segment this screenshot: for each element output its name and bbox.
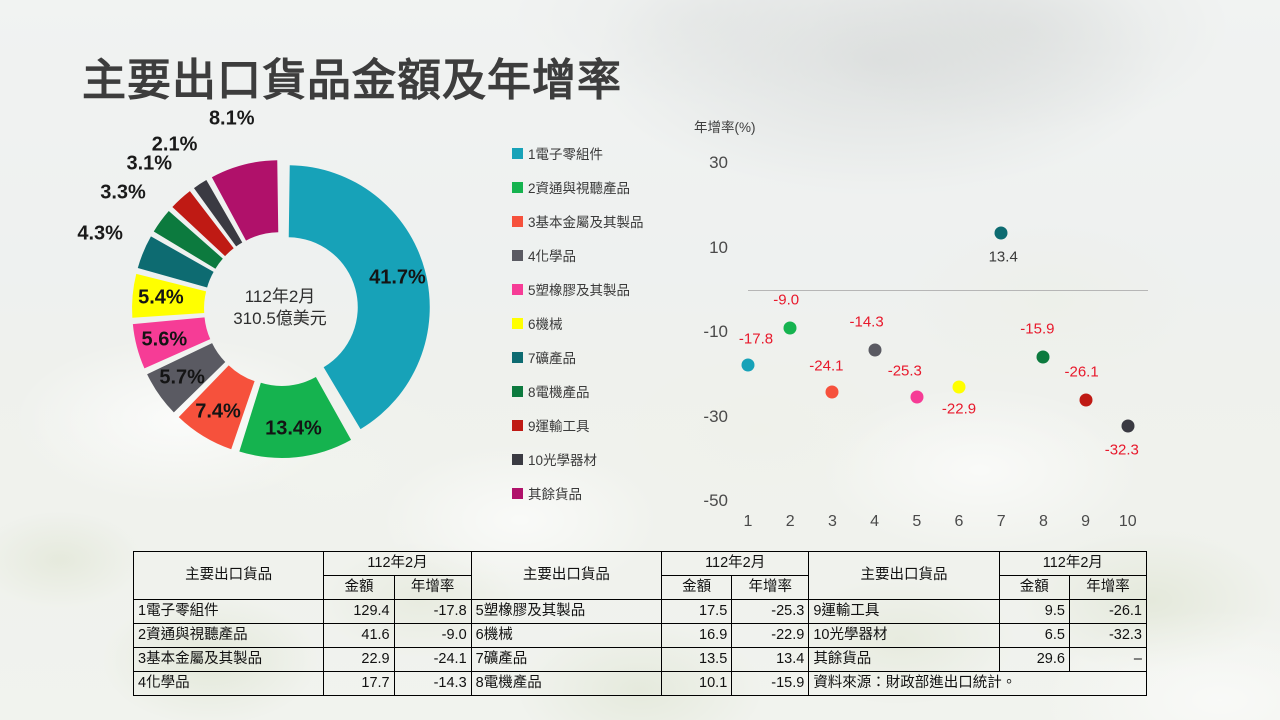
legend-swatch-icon [512,386,523,397]
table-cell-amount: 10.1 [662,672,732,696]
legend-item-6[interactable]: 6機械 [512,306,692,340]
table-header-name: 主要出口貨品 [809,552,999,600]
table-cell-amount: 17.5 [662,600,732,624]
legend-swatch-icon [512,216,523,227]
legend-item-label: 2資通與視聽產品 [528,177,630,197]
donut-center-line2: 310.5億美元 [233,308,327,330]
y-axis-title: 年增率(%) [694,116,756,136]
table-header-name: 主要出口貨品 [134,552,324,600]
legend-item-4[interactable]: 4化學品 [512,238,692,272]
donut-slice-label: 7.4% [195,400,241,423]
scatter-point-label: -24.1 [809,357,843,374]
scatter-point-7[interactable] [995,227,1008,240]
table-row: 3基本金屬及其製品22.9-24.17礦產品13.513.4其餘貨品29.6– [134,648,1147,672]
x-axis-tick: 8 [1039,513,1048,531]
table-header-growth: 年增率 [1069,576,1146,600]
donut-chart: 41.7%13.4%7.4%5.7%5.6%5.4%4.3%3.3%3.1%2.… [70,108,490,508]
scatter-point-10[interactable] [1121,420,1134,433]
table-header-name: 主要出口貨品 [471,552,661,600]
legend-item-11[interactable]: 其餘貨品 [512,476,692,510]
scatter-point-2[interactable] [784,321,797,334]
donut-slice-label: 8.1% [209,108,255,131]
legend-swatch-icon [512,420,523,431]
legend-swatch-icon [512,250,523,261]
scatter-point-9[interactable] [1079,394,1092,407]
table-cell-amount: 13.5 [662,648,732,672]
y-axis-tick: -30 [680,407,728,427]
table-cell-growth: -15.9 [732,672,809,696]
legend-swatch-icon [512,148,523,159]
growth-rate-scatter-chart: 年增率(%) 3010-10-30-50 12345678910 -17.8-9… [680,108,1180,538]
table-cell-name: 1電子零組件 [134,600,324,624]
donut-slice-label: 4.3% [77,222,123,245]
legend-item-label: 5塑橡膠及其製品 [528,279,630,299]
table-header-row: 主要出口貨品112年2月主要出口貨品112年2月主要出口貨品112年2月 [134,552,1147,576]
donut-slice-label: 5.7% [159,367,205,390]
scatter-point-label: -32.3 [1105,442,1139,459]
table-cell-growth: -17.8 [394,600,471,624]
x-axis-tick: 4 [870,513,879,531]
table-header-amount: 金額 [662,576,732,600]
table-header-amount: 金額 [324,576,394,600]
legend-item-label: 6機械 [528,313,563,333]
table-cell-name: 6機械 [471,624,661,648]
legend-item-2[interactable]: 2資通與視聽產品 [512,170,692,204]
donut-slice-label: 41.7% [369,266,426,289]
legend-swatch-icon [512,182,523,193]
table-cell-name: 8電機產品 [471,672,661,696]
table-row: 2資通與視聽產品41.6-9.06機械16.9-22.910光學器材6.5-32… [134,624,1147,648]
scatter-point-3[interactable] [826,385,839,398]
donut-center-label: 112年2月 310.5億美元 [233,286,327,330]
donut-slice-label: 13.4% [265,417,322,440]
donut-slice-label: 5.4% [138,287,184,310]
x-axis-tick: 9 [1081,513,1090,531]
scatter-point-1[interactable] [742,359,755,372]
donut-slice-label: 2.1% [152,133,198,156]
scatter-point-label: -22.9 [942,400,976,417]
table-header-amount: 金額 [999,576,1069,600]
donut-slice-label: 5.6% [142,328,188,351]
x-axis-tick: 6 [955,513,964,531]
legend-item-label: 9運輸工具 [528,415,590,435]
table-header-period: 112年2月 [324,552,471,576]
table-cell-amount: 129.4 [324,600,394,624]
scatter-point-label: 13.4 [989,249,1018,266]
scatter-point-label: -9.0 [773,291,799,308]
legend-item-8[interactable]: 8電機產品 [512,374,692,408]
table-header-period: 112年2月 [999,552,1146,576]
scatter-point-label: -25.3 [888,362,922,379]
legend-swatch-icon [512,454,523,465]
scatter-point-label: -14.3 [849,314,883,331]
table-cell-name: 9運輸工具 [809,600,999,624]
legend-swatch-icon [512,284,523,295]
scatter-point-label: -26.1 [1064,364,1098,381]
table-cell-growth: -32.3 [1069,624,1146,648]
table-cell-amount: 16.9 [662,624,732,648]
legend-item-10[interactable]: 10光學器材 [512,442,692,476]
table-cell-name: 10光學器材 [809,624,999,648]
x-axis-tick: 2 [786,513,795,531]
table-cell-growth: -24.1 [394,648,471,672]
zero-gridline [748,290,1148,291]
table-cell-name: 4化學品 [134,672,324,696]
export-goods-table: 主要出口貨品112年2月主要出口貨品112年2月主要出口貨品112年2月金額年增… [133,551,1147,696]
legend-item-label: 7礦產品 [528,347,576,367]
legend-item-label: 4化學品 [528,245,576,265]
table-cell-amount: 22.9 [324,648,394,672]
x-axis-tick: 7 [997,513,1006,531]
table-header-period: 112年2月 [662,552,809,576]
scatter-point-4[interactable] [868,344,881,357]
x-axis-tick: 1 [744,513,753,531]
table-cell-amount: 9.5 [999,600,1069,624]
table-cell-growth: -14.3 [394,672,471,696]
scatter-point-8[interactable] [1037,351,1050,364]
donut-slice [212,160,278,240]
table-cell-growth: -26.1 [1069,600,1146,624]
y-axis-tick: -50 [680,491,728,511]
legend-swatch-icon [512,352,523,363]
x-axis-tick: 3 [828,513,837,531]
scatter-point-5[interactable] [910,390,923,403]
legend-item-label: 8電機產品 [528,381,590,401]
table-cell-growth: -22.9 [732,624,809,648]
y-axis-tick: 30 [680,153,728,173]
legend-item-label: 10光學器材 [528,449,597,469]
table-cell-growth: – [1069,648,1146,672]
table-cell-amount: 17.7 [324,672,394,696]
x-axis-tick: 10 [1119,513,1137,531]
table-cell-name: 3基本金屬及其製品 [134,648,324,672]
x-axis-tick: 5 [912,513,921,531]
legend-swatch-icon [512,318,523,329]
y-axis-tick: -10 [680,322,728,342]
legend-item-label: 1電子零組件 [528,143,603,163]
legend-item-1[interactable]: 1電子零組件 [512,136,692,170]
chart-legend: 1電子零組件2資通與視聽產品3基本金屬及其製品4化學品5塑橡膠及其製品6機械7礦… [512,136,692,510]
table-cell-growth: -25.3 [732,600,809,624]
y-axis-tick: 10 [680,238,728,258]
page-title: 主要出口貨品金額及年增率 [82,44,622,108]
table-cell-amount: 6.5 [999,624,1069,648]
scatter-point-6[interactable] [953,380,966,393]
table-cell-amount: 41.6 [324,624,394,648]
table-row: 1電子零組件129.4-17.85塑橡膠及其製品17.5-25.39運輸工具9.… [134,600,1147,624]
donut-slice-label: 3.3% [100,182,146,205]
legend-item-7[interactable]: 7礦產品 [512,340,692,374]
scatter-point-label: -15.9 [1020,321,1054,338]
table-header-growth: 年增率 [394,576,471,600]
legend-item-label: 3基本金屬及其製品 [528,211,644,231]
table-cell-name: 2資通與視聽產品 [134,624,324,648]
donut-center-line1: 112年2月 [233,286,327,308]
table-row: 4化學品17.7-14.38電機產品10.1-15.9資料來源：財政部進出口統計… [134,672,1147,696]
legend-item-9[interactable]: 9運輸工具 [512,408,692,442]
table-cell-growth: 13.4 [732,648,809,672]
table-cell-name: 7礦產品 [471,648,661,672]
table-source-note: 資料來源：財政部進出口統計。 [809,672,1147,696]
table-header-growth: 年增率 [732,576,809,600]
legend-swatch-icon [512,488,523,499]
table-cell-amount: 29.6 [999,648,1069,672]
legend-item-3[interactable]: 3基本金屬及其製品 [512,204,692,238]
scatter-point-label: -17.8 [739,331,773,348]
legend-item-5[interactable]: 5塑橡膠及其製品 [512,272,692,306]
table-cell-name: 其餘貨品 [809,648,999,672]
table-cell-growth: -9.0 [394,624,471,648]
table-cell-name: 5塑橡膠及其製品 [471,600,661,624]
legend-item-label: 其餘貨品 [528,483,582,503]
